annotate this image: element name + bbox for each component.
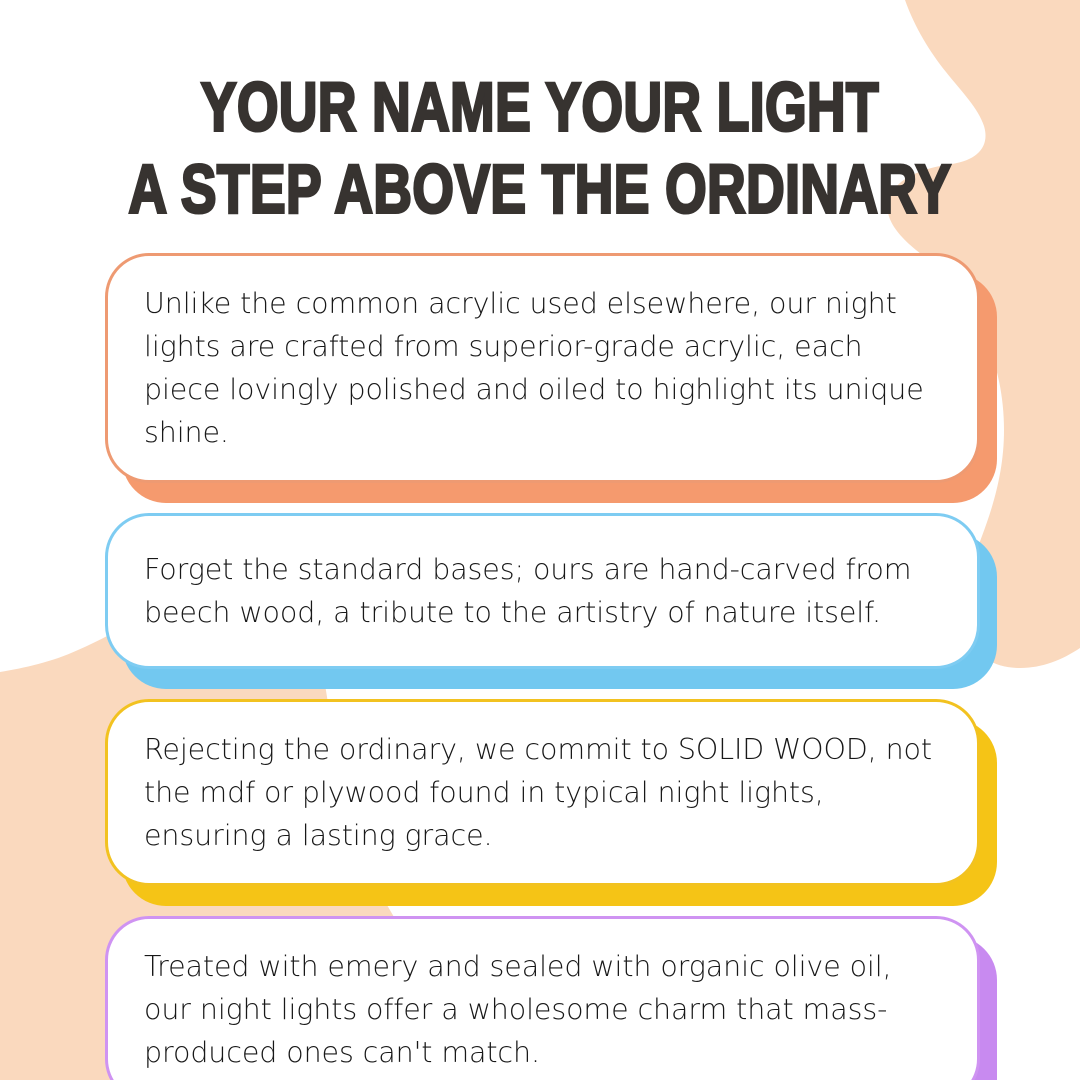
feature-card-acrylic: Unlike the common acrylic used elsewhere… [105,253,980,483]
poster-canvas: YOUR NAME YOUR LIGHT A STEP ABOVE THE OR… [0,0,1080,1080]
card-text: Treated with emery and sealed with organ… [144,945,943,1074]
feature-card-solid-wood: Rejecting the ordinary, we commit to SOL… [105,699,980,886]
card-body: Forget the standard bases; ours are hand… [105,513,980,669]
card-body: Rejecting the ordinary, we commit to SOL… [105,699,980,886]
card-body: Treated with emery and sealed with organ… [105,916,980,1080]
feature-card-beech-wood-base: Forget the standard bases; ours are hand… [105,513,980,669]
card-text: Unlike the common acrylic used elsewhere… [144,282,943,454]
page-title-line-1: YOUR NAME YOUR LIGHT [43,66,1037,151]
page-title: YOUR NAME YOUR LIGHT A STEP ABOVE THE OR… [0,72,1080,226]
feature-card-olive-oil-finish: Treated with emery and sealed with organ… [105,916,980,1080]
card-text: Rejecting the ordinary, we commit to SOL… [144,728,943,857]
card-text: Forget the standard bases; ours are hand… [144,548,943,634]
feature-card-list: Unlike the common acrylic used elsewhere… [0,253,1080,1080]
card-body: Unlike the common acrylic used elsewhere… [105,253,980,483]
page-title-line-2: A STEP ABOVE THE ORDINARY [43,148,1037,233]
